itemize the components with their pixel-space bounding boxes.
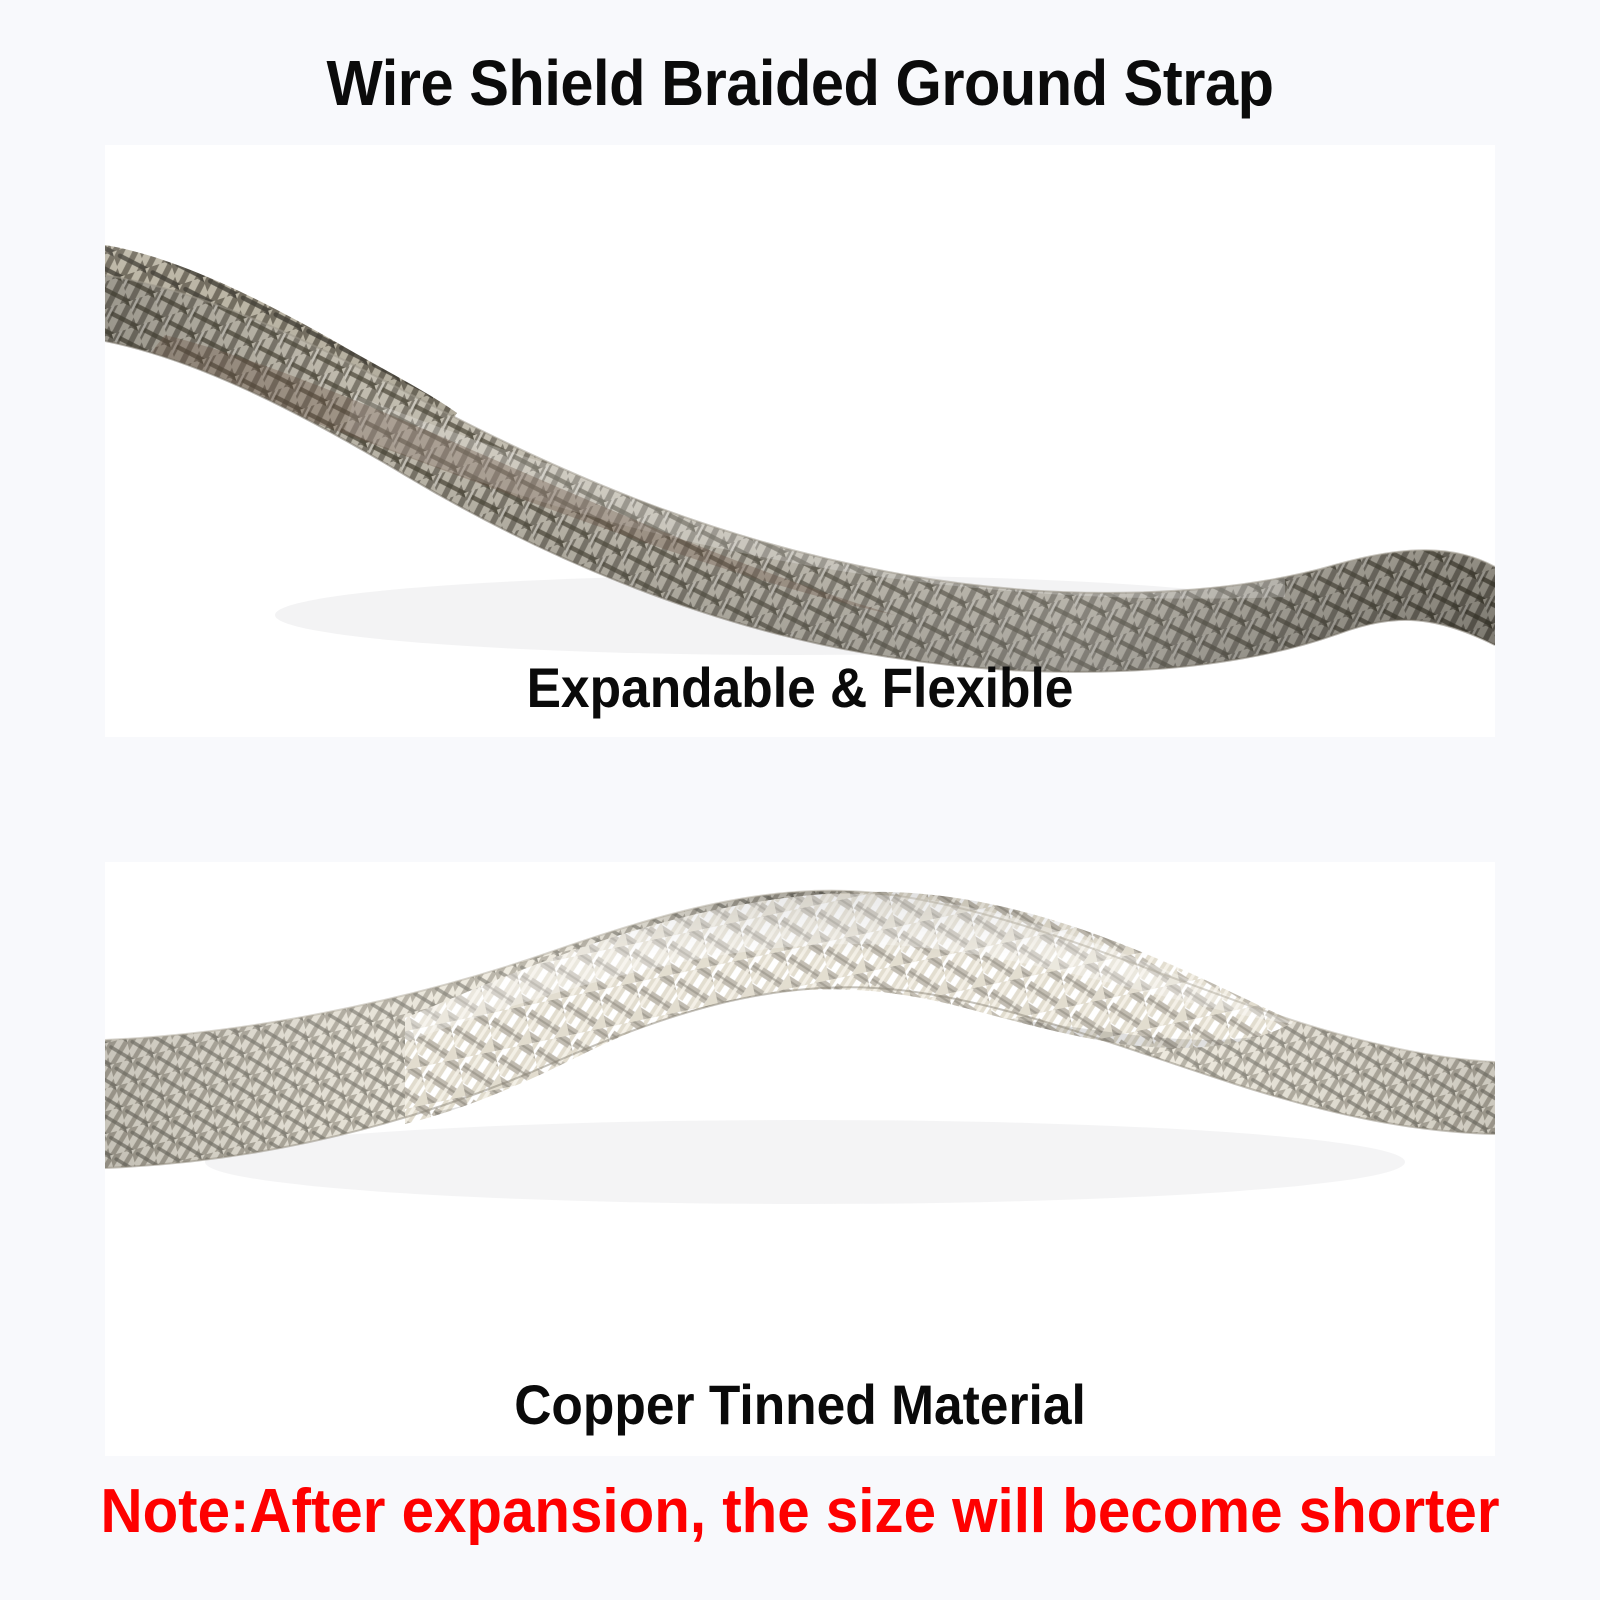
braid-illustration-top	[105, 145, 1495, 737]
caption-expandable-flexible: Expandable & Flexible	[105, 658, 1495, 718]
unexpanded-braid-photo: Expandable & Flexible	[105, 145, 1495, 737]
product-infographic: Wire Shield Braided Ground Strap	[0, 0, 1600, 1600]
caption-copper-tinned-material: Copper Tinned Material	[105, 1375, 1495, 1435]
expanded-braid-photo: Copper Tinned Material	[105, 862, 1495, 1456]
page-title: Wire Shield Braided Ground Strap	[56, 48, 1544, 118]
braid-illustration-bottom	[105, 862, 1495, 1456]
expansion-note: Note:After expansion, the size will beco…	[48, 1478, 1552, 1546]
